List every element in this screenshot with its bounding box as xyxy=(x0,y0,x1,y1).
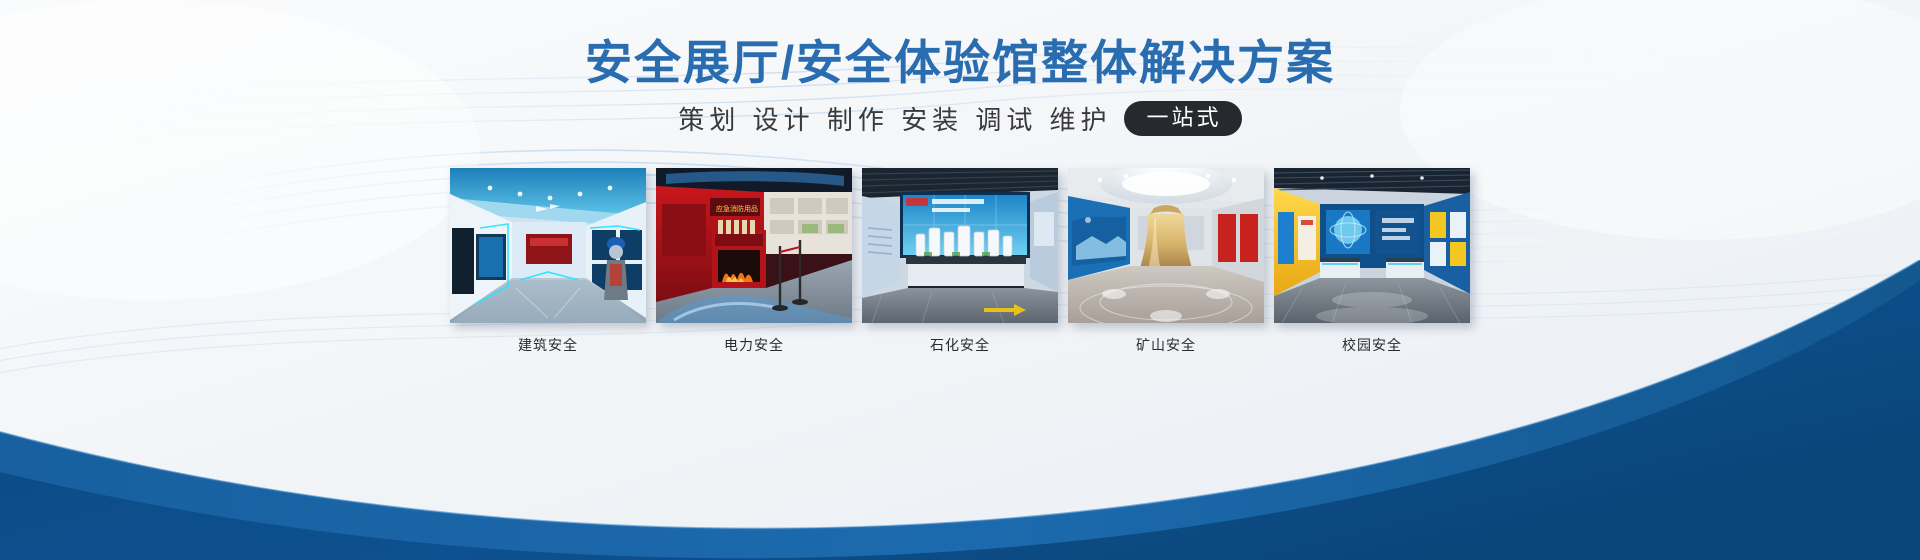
card-label: 矿山安全 xyxy=(1136,335,1196,355)
card-label: 建筑安全 xyxy=(518,335,578,355)
card-label: 电力安全 xyxy=(724,335,784,355)
card-label: 石化安全 xyxy=(930,335,990,355)
thumbnail-image-electric-power[interactable]: 应急消防用品 xyxy=(656,168,852,323)
thumbnail-image-mine-safety[interactable] xyxy=(1068,168,1264,323)
gallery-card[interactable]: 石化安全 xyxy=(862,168,1058,355)
thumbnail-image-construction[interactable] xyxy=(450,168,646,323)
banner-content: 安全展厅/安全体验馆整体解决方案 策划 设计 制作 安装 调试 维护 一站式 xyxy=(0,0,1920,560)
card-gallery: 建筑安全 xyxy=(0,168,1920,355)
subtitle-text: 策划 设计 制作 安装 调试 维护 xyxy=(678,100,1111,137)
gallery-card[interactable]: 矿山安全 xyxy=(1068,168,1264,355)
thumbnail-image-campus-safety[interactable] xyxy=(1274,168,1470,323)
banner-root: 安全展厅/安全体验馆整体解决方案 策划 设计 制作 安装 调试 维护 一站式 xyxy=(0,0,1920,560)
subtitle-row: 策划 设计 制作 安装 调试 维护 一站式 xyxy=(0,100,1920,137)
page-title: 安全展厅/安全体验馆整体解决方案 xyxy=(0,24,1920,93)
gallery-card[interactable]: 建筑安全 xyxy=(450,168,646,355)
gallery-card[interactable]: 校园安全 xyxy=(1274,168,1470,355)
one-stop-badge: 一站式 xyxy=(1124,101,1242,136)
gallery-card[interactable]: 应急消防用品 xyxy=(656,168,852,355)
card-label: 校园安全 xyxy=(1342,335,1402,355)
thumbnail-image-petrochemical[interactable] xyxy=(862,168,1058,323)
svg-text:应急消防用品: 应急消防用品 xyxy=(716,204,758,213)
